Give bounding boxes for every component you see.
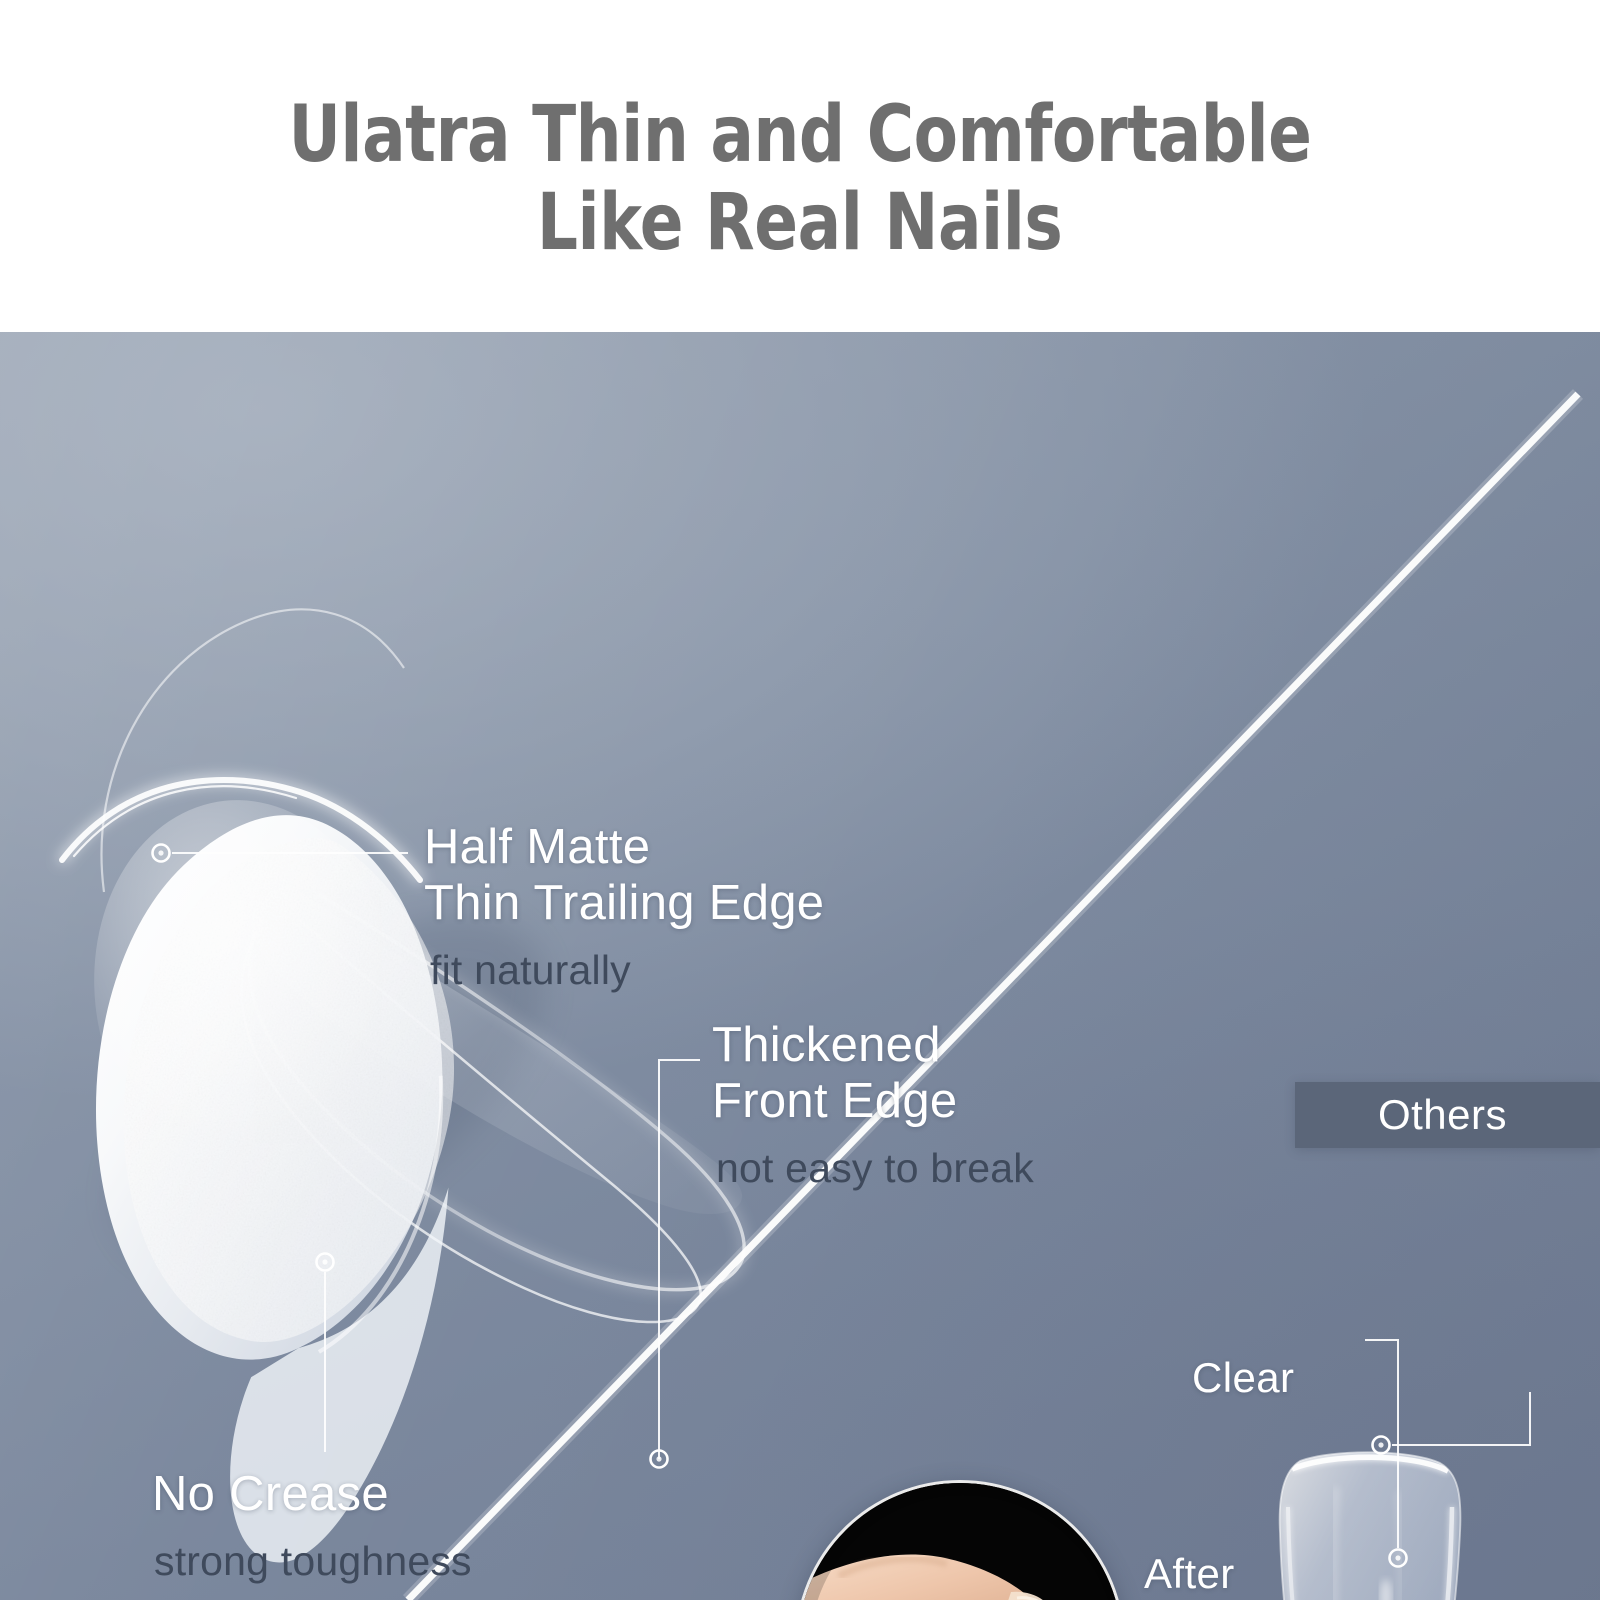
callout-leader-half-matte [153, 845, 409, 862]
others-badge-label: Others [1378, 1091, 1517, 1139]
callout-half-matte-title-2: Thin Trailing Edge [424, 876, 824, 932]
infographic-page: Ulatra Thin and Comfortable Like Real Na… [0, 0, 1600, 1600]
callout-leader-abs [1373, 1392, 1531, 1454]
callout-half-matte: Half Matte Thin Trailing Edge fit natura… [424, 820, 824, 995]
callout-no-crease: No Crease strong toughness [152, 1467, 472, 1586]
callout-thickened-subtitle: not easy to break [716, 1144, 1034, 1193]
others-badge: Others [1295, 1082, 1600, 1148]
callout-no-crease-subtitle: strong toughness [154, 1537, 472, 1586]
others-clear-nail-illustration [1240, 1447, 1500, 1600]
nail-glow-arc [62, 780, 420, 880]
bend-demo-photo [795, 1480, 1125, 1600]
page-title-line-2: Like Real Nails [537, 179, 1062, 267]
header-banner: Ulatra Thin and Comfortable Like Real Na… [0, 0, 1600, 332]
callout-after-bend: After Bend [1144, 1550, 1244, 1600]
clear-nail-body [1280, 1452, 1461, 1600]
page-title-line-1: Ulatra Thin and Comfortable [288, 91, 1311, 179]
callout-leader-thickened [651, 1060, 701, 1468]
callout-thickened-front-edge: Thickened Front Edge not easy to break [712, 1018, 1034, 1193]
callout-after-bend-line-1: After [1144, 1550, 1244, 1597]
callout-half-matte-title-1: Half Matte [424, 820, 824, 876]
callout-leader-no-crease [317, 1254, 334, 1453]
comparison-stage: Half Matte Thin Trailing Edge fit natura… [0, 332, 1600, 1600]
callout-thickened-title-1: Thickened [712, 1018, 1034, 1074]
callout-clear-label: Clear [1192, 1354, 1294, 1401]
callout-thickened-title-2: Front Edge [712, 1074, 1034, 1130]
callout-no-crease-title: No Crease [152, 1467, 472, 1523]
hand-bending-nail-photo [795, 1480, 1125, 1600]
callout-half-matte-subtitle: fit naturally [430, 946, 824, 995]
